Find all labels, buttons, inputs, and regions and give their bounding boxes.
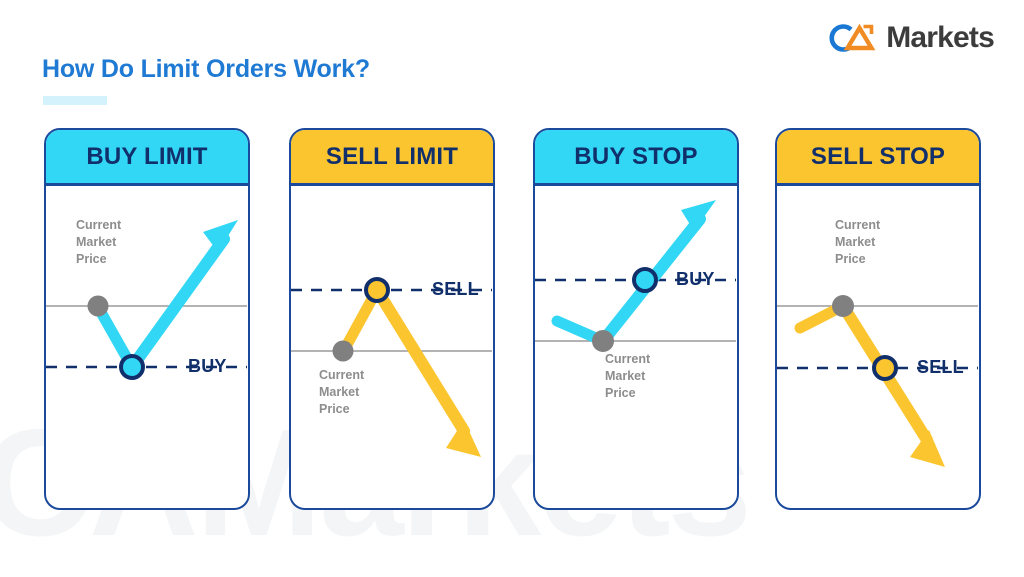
infographic-canvas: CAMarkets How Do Limit Orders Work? Mark… <box>0 0 1024 577</box>
order-label-buy-stop: BUY <box>676 269 715 290</box>
card-body-buy-stop: Current Market Price BUY <box>535 186 737 509</box>
cmp-line-3: Price <box>319 401 364 418</box>
card-body-sell-limit: Current Market Price SELL <box>291 186 493 509</box>
cmp-line-2: Market <box>835 234 880 251</box>
order-level-dot <box>121 356 143 378</box>
card-header-sell-limit: SELL LIMIT <box>291 130 493 186</box>
card-buy-limit[interactable]: BUY LIMIT Current Market Price BUY <box>44 128 250 510</box>
card-title-buy-stop: BUY STOP <box>574 143 697 171</box>
order-level-dot <box>634 269 656 291</box>
page-title: How Do Limit Orders Work? <box>42 55 370 84</box>
buy-stop-diagram <box>535 186 736 509</box>
market-price-label-sell-stop: Current Market Price <box>835 217 880 268</box>
card-title-sell-stop: SELL STOP <box>811 143 945 171</box>
sell-limit-diagram <box>291 186 492 509</box>
market-price-dot <box>592 330 614 352</box>
cmp-line-3: Price <box>605 385 650 402</box>
logo-wordmark: Markets <box>886 23 994 53</box>
cmp-line-1: Current <box>835 217 880 234</box>
market-price-label-sell-limit: Current Market Price <box>319 367 364 418</box>
card-sell-stop[interactable]: SELL STOP Current Market Price SELL <box>775 128 981 510</box>
order-label-sell-limit: SELL <box>432 279 479 300</box>
cmp-line-1: Current <box>605 351 650 368</box>
card-header-buy-limit: BUY LIMIT <box>46 130 248 186</box>
cmp-line-1: Current <box>76 217 121 234</box>
market-price-dot <box>333 341 354 362</box>
market-price-dot <box>88 296 109 317</box>
card-header-sell-stop: SELL STOP <box>777 130 979 186</box>
card-buy-stop[interactable]: BUY STOP Current Market Price BUY <box>533 128 739 510</box>
brand-logo: Markets <box>825 23 994 53</box>
title-underline-bar <box>43 96 107 105</box>
market-price-label-buy-stop: Current Market Price <box>605 351 650 402</box>
order-label-sell-stop: SELL <box>917 357 964 378</box>
order-level-dot <box>366 279 388 301</box>
market-price-label-buy-limit: Current Market Price <box>76 217 121 268</box>
cmp-line-3: Price <box>76 251 121 268</box>
price-path-arrow <box>800 306 945 467</box>
card-body-sell-stop: Current Market Price SELL <box>777 186 979 509</box>
card-body-buy-limit: Current Market Price BUY <box>46 186 248 509</box>
card-title-buy-limit: BUY LIMIT <box>86 143 207 171</box>
card-title-sell-limit: SELL LIMIT <box>326 143 458 171</box>
cmp-line-1: Current <box>319 367 364 384</box>
card-sell-limit[interactable]: SELL LIMIT Current Market Price SELL <box>289 128 495 510</box>
cmp-line-2: Market <box>605 368 650 385</box>
card-header-buy-stop: BUY STOP <box>535 130 737 186</box>
order-label-buy-limit: BUY <box>188 356 227 377</box>
market-price-dot <box>832 295 854 317</box>
cmp-line-2: Market <box>76 234 121 251</box>
order-level-dot <box>874 357 896 379</box>
ca-logo-icon <box>825 23 885 53</box>
cmp-line-3: Price <box>835 251 880 268</box>
cmp-line-2: Market <box>319 384 364 401</box>
